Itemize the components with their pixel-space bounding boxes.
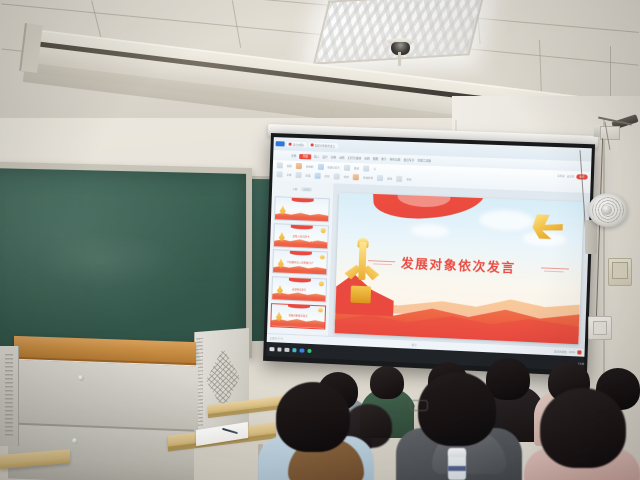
current-slide[interactable]: 发展对象依次发言 [335, 193, 584, 345]
thumb-hammer-sickle-icon-3 [320, 255, 325, 260]
cloud-doc-label[interactable]: 云文档 [567, 174, 575, 178]
student-head-foreground [540, 388, 626, 468]
ribbon-tab-view[interactable]: 视图 [373, 157, 379, 161]
outline-tab[interactable]: 大纲 [293, 186, 298, 190]
presenter [104, 246, 200, 346]
presenter-view-label[interactable]: 演讲者视图 [554, 349, 567, 354]
ribbon-tab-section[interactable]: 章节 [381, 157, 387, 161]
thumbnail-slide-3[interactable]: 介绍辅导员入党积极分子 [272, 250, 328, 276]
find-icon[interactable] [396, 176, 402, 182]
eyeglasses-icon [410, 400, 428, 411]
projected-desktop: 演示文稿1 发展对象依次发言 文件 开始 插入 设计 切换 动画 幻灯片放映 审… [266, 137, 592, 371]
zoom-level[interactable]: 100% [569, 350, 576, 353]
document-tab-1-label: 演示文稿1 [293, 142, 305, 146]
fan-wall-mount [585, 220, 597, 254]
font-label: 字体 [286, 173, 291, 177]
slides-tab[interactable]: 幻灯片 [301, 187, 312, 191]
wall-outlet-face[interactable] [612, 262, 628, 279]
new-slide-label: 新建幻灯片 [327, 165, 340, 169]
section-label: 节 [373, 167, 376, 171]
ribbon-tab-insert[interactable]: 插入 [314, 155, 320, 159]
ribbon-tab-review[interactable]: 审阅 [364, 157, 370, 161]
task-view-icon[interactable] [284, 348, 289, 353]
notes-button[interactable]: 备注 [412, 343, 417, 347]
slide-thumbnail-pane[interactable]: 大纲 幻灯片 宣誓入党志愿书 [267, 181, 335, 341]
quickstyle-icon[interactable] [353, 174, 359, 180]
document-tab-2[interactable]: 发展对象依次发言 [308, 142, 337, 148]
ppt-file-icon [289, 143, 292, 146]
student-head-foreground [418, 372, 496, 446]
arrange-icon[interactable] [334, 174, 340, 180]
ribbon-tab-slideshow[interactable]: 幻灯片放映 [348, 156, 362, 161]
dome-camera-stem [398, 52, 401, 66]
thumb-hammer-sickle-icon-5 [318, 308, 323, 313]
thumbnail-slide-1[interactable] [274, 197, 330, 223]
paste-label: 粘贴 [287, 164, 292, 168]
lectern-left-vent [0, 346, 19, 446]
quickstyle-label: 快速样式 [363, 176, 373, 180]
ribbon-tab-member[interactable]: 会员专享 [403, 158, 414, 162]
lectern-knob-lower[interactable] [72, 438, 78, 444]
account-label[interactable]: 未登录 [557, 174, 565, 178]
browser-icon[interactable] [299, 348, 304, 353]
ppt-file-icon-2 [310, 143, 313, 146]
fill-icon[interactable] [377, 175, 383, 181]
format-painter-icon[interactable] [296, 163, 302, 169]
wall-switch-button[interactable] [593, 321, 607, 335]
thumbnail-slide-4[interactable]: 支部委员发言 [271, 276, 327, 302]
search-icon[interactable] [277, 347, 282, 352]
ribbon-tab-transitions[interactable]: 切换 [331, 155, 337, 159]
classroom-photo: 演示文稿1 发展对象依次发言 文件 开始 插入 设计 切换 动画 幻灯片放映 审… [0, 0, 640, 480]
slide-editing-area[interactable]: 发展对象依次发言 [328, 184, 590, 354]
shapes-icon[interactable] [314, 173, 320, 179]
format-painter-label: 格式刷 [306, 165, 314, 169]
record-icon[interactable] [577, 350, 581, 354]
arrange-label: 排列 [344, 175, 349, 179]
start-icon[interactable] [269, 347, 274, 352]
paragraph-icon[interactable] [295, 172, 301, 178]
document-tab-1[interactable]: 演示文稿1 [287, 142, 307, 148]
thumb-hammer-sickle-icon-4 [319, 281, 324, 286]
ribbon-tab-animations[interactable]: 动画 [339, 156, 345, 160]
document-tab-2-label: 发展对象依次发言 [314, 143, 335, 148]
layout-icon[interactable] [344, 165, 350, 171]
ribbon-tab-home[interactable]: 开始 [299, 154, 311, 159]
new-slide-icon[interactable] [317, 164, 323, 170]
thumb-hammer-sickle-icon-2 [321, 228, 326, 233]
slide-counter: 幻灯片 5 / 5 [270, 336, 283, 341]
ribbon-tab-file[interactable]: 文件 [291, 154, 297, 158]
thumbnail-slide-5[interactable]: 发展对象依次发言 [270, 303, 326, 330]
thumbnail-slide-2[interactable]: 宣誓入党志愿书 [273, 223, 329, 249]
student-head-foreground [276, 382, 350, 452]
layout-label: 版式 [354, 166, 359, 170]
paste-icon[interactable] [277, 162, 283, 168]
shapes-label: 形状 [325, 174, 330, 178]
font-icon[interactable] [276, 171, 282, 177]
lectern-knob-upper[interactable] [78, 375, 84, 381]
fill-label: 填充 [387, 177, 392, 181]
ribbon-tab-toolbox[interactable]: 智能工具箱 [417, 158, 431, 163]
water-bottle-label [448, 466, 466, 471]
ribbon-tab-features[interactable]: 特色功能 [389, 157, 400, 161]
paragraph-label: 段落 [305, 174, 310, 178]
projection-screen: 演示文稿1 发展对象依次发言 文件 开始 插入 设计 切换 动画 幻灯片放映 审… [263, 133, 595, 376]
ribbon-tab-design[interactable]: 设计 [322, 155, 328, 159]
app-logo-icon [276, 141, 285, 146]
ribbon-right-cluster: 未登录 云文档 协作 [557, 173, 587, 179]
wechat-icon[interactable] [307, 349, 312, 354]
status-right-cluster: 演讲者视图 100% [554, 349, 582, 354]
section-icon[interactable] [363, 166, 369, 172]
explorer-icon[interactable] [292, 348, 297, 353]
find-label: 查找 [406, 177, 411, 181]
student-head [370, 366, 404, 399]
fan-hub [602, 205, 612, 215]
water-bottle-cap [448, 448, 466, 457]
